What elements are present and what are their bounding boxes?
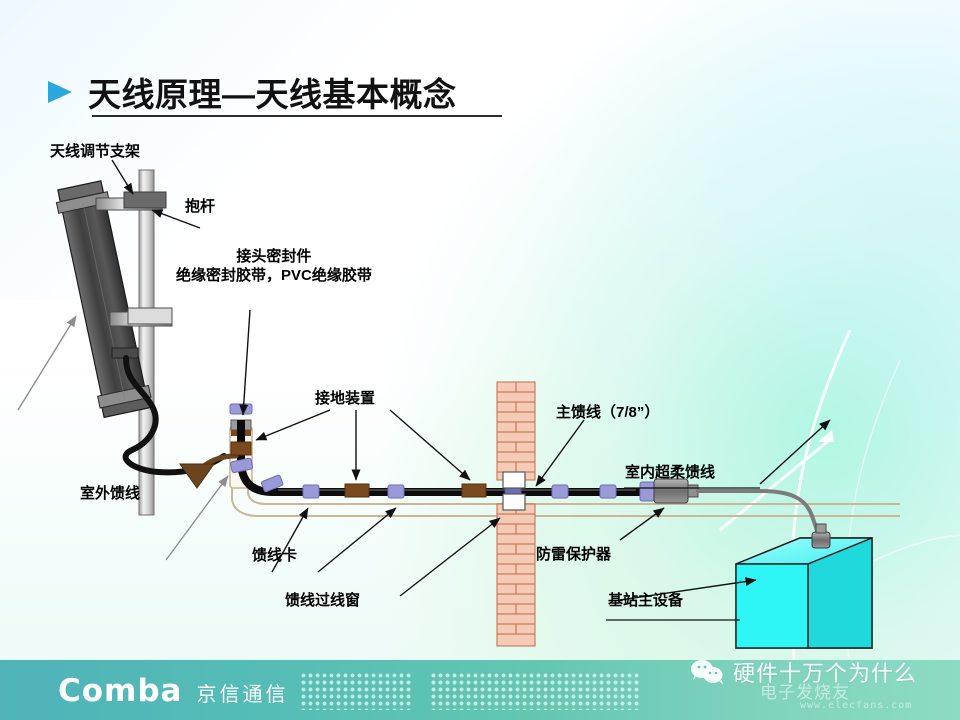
label-main-feeder: 主馈线（7/8”） — [556, 404, 659, 423]
triangle-right-icon — [48, 81, 72, 103]
title-underline — [92, 115, 502, 117]
slide-title-row: 天线原理—天线基本概念 — [48, 68, 457, 116]
footer-dot-pattern-right — [430, 672, 640, 710]
leader-antenna-body — [18, 316, 76, 410]
leader-lightning — [620, 508, 664, 540]
leader-ground-1 — [256, 410, 330, 440]
brick-wall-icon — [497, 382, 535, 646]
earth-ground-icon — [180, 456, 236, 488]
wechat-icon — [690, 658, 724, 686]
leader-indoor-feeder — [760, 420, 830, 484]
label-lightning-protector: 防雷保护器 — [536, 546, 611, 565]
slide-canvas: 天线原理—天线基本概念 — [0, 0, 960, 720]
label-bts-main-equipment: 基站主设备 — [608, 592, 683, 611]
bts-cabinet-icon — [736, 524, 872, 648]
main-feeder-cable — [241, 420, 640, 492]
leader-antenna-bracket — [112, 160, 133, 194]
leader-ground-3 — [390, 410, 470, 480]
label-pole: 抱杆 — [185, 198, 215, 217]
label-grounding-device: 接地装置 — [315, 390, 375, 409]
antenna-system-diagram — [0, 120, 960, 660]
watermark-site-url: www.elecfans.com — [800, 700, 912, 711]
leader-connector-seal — [243, 310, 250, 415]
comba-wordmark-cn: 京信通信 — [196, 678, 288, 707]
label-feeder-clamp: 馈线卡 — [252, 547, 297, 566]
footer-dot-pattern-left — [300, 672, 412, 710]
leader-clamp-2 — [318, 508, 396, 572]
leader-window — [400, 518, 500, 596]
mounting-pole-icon — [139, 170, 154, 515]
label-outdoor-feeder: 室外馈线 — [80, 485, 140, 504]
label-indoor-soft-feeder: 室内超柔馈线 — [625, 464, 715, 483]
label-connector-seal-line1: 接头密封件 — [176, 248, 372, 267]
leader-main-feeder — [536, 420, 584, 486]
label-connector-seal-line2: 绝缘密封胶带，PVC绝缘胶带 — [176, 267, 372, 286]
label-connector-seal: 接头密封件 绝缘密封胶带，PVC绝缘胶带 — [176, 248, 372, 286]
comba-wordmark: Comba — [58, 673, 182, 709]
page-title: 天线原理—天线基本概念 — [88, 68, 457, 116]
label-feeder-window: 馈线过线窗 — [285, 592, 360, 611]
comba-logo: Comba 京信通信 — [58, 673, 288, 709]
panel-antenna-icon — [54, 180, 153, 418]
label-antenna-bracket: 天线调节支架 — [50, 143, 140, 162]
